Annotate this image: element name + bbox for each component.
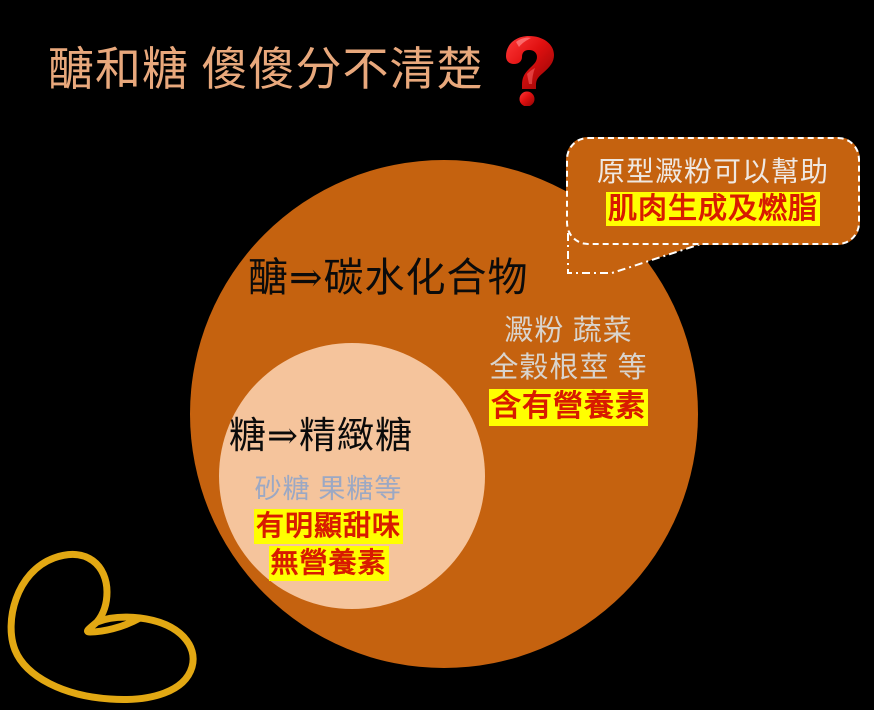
page-title: 醣和糖 傻傻分不清楚 [48,45,484,95]
slide-canvas: 醣和糖 傻傻分不清楚 醣⇒碳水化合物 澱粉 蔬菜 [0,0,874,710]
list-item: 砂糖 果糖等 [254,472,403,507]
list-item-highlight: 有明顯甜味 [254,509,403,544]
bean-outline-icon [2,536,217,706]
slide-title-row: 醣和糖 傻傻分不清楚 [48,34,558,106]
callout-line-highlight: 肌肉生成及燃脂 [606,192,820,227]
callout-line: 原型澱粉可以幫助 [597,156,829,189]
list-item: 澱粉 蔬菜 [489,313,648,350]
list-item-highlight: 含有營養素 [489,389,648,426]
carbohydrate-item-list: 澱粉 蔬菜 全穀根莖 等 含有營養素 [489,313,648,426]
speech-bubble: 原型澱粉可以幫助 肌肉生成及燃脂 [566,137,860,245]
question-mark-icon [502,34,558,106]
refined-sugar-item-list: 砂糖 果糖等 有明顯甜味 無營養素 [254,472,403,581]
list-item: 全穀根莖 等 [489,350,648,387]
refined-sugar-heading: 糖⇒精緻糖 [229,405,413,459]
list-item-highlight: 無營養素 [269,546,389,581]
carbohydrate-heading: 醣⇒碳水化合物 [248,245,529,303]
